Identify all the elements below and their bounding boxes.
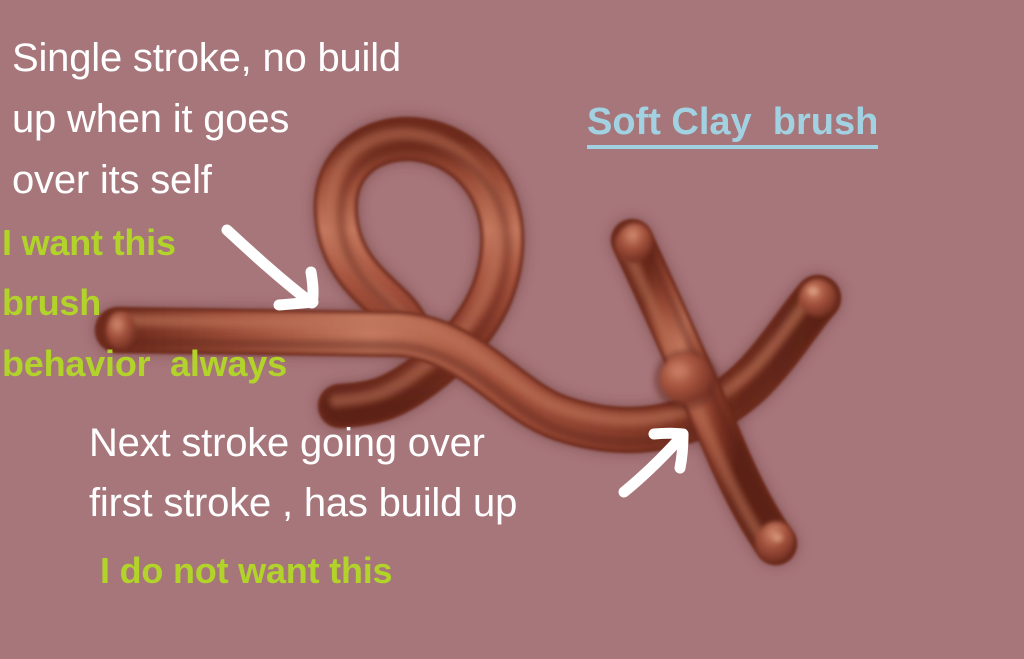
bottom-note-line-1: Next stroke going over <box>89 423 485 463</box>
soft-clay-brush-title: Soft Clay brush <box>587 103 878 149</box>
top-note-line-2: up when it goes <box>12 99 289 139</box>
stroke-end-cap <box>799 279 837 317</box>
want-note-line-3: behavior always <box>2 346 287 382</box>
bottom-note-line-2: first stroke , has build up <box>89 483 517 523</box>
want-note-line-1: I want this <box>2 225 176 261</box>
first-stroke-no-buildup <box>106 134 837 442</box>
top-note-line-3: over its self <box>12 160 212 200</box>
end-cap-specular <box>808 287 818 295</box>
diagonal-end-specular <box>773 534 783 542</box>
want-note-line-2: brush <box>2 285 101 321</box>
top-note-line-1: Single stroke, no build <box>12 38 401 78</box>
arrow-to-loop-crossing-icon <box>227 230 313 305</box>
screenshot-canvas: Single stroke, no build up when it goes … <box>0 0 1024 659</box>
do-not-want-note: I do not want this <box>100 553 392 589</box>
